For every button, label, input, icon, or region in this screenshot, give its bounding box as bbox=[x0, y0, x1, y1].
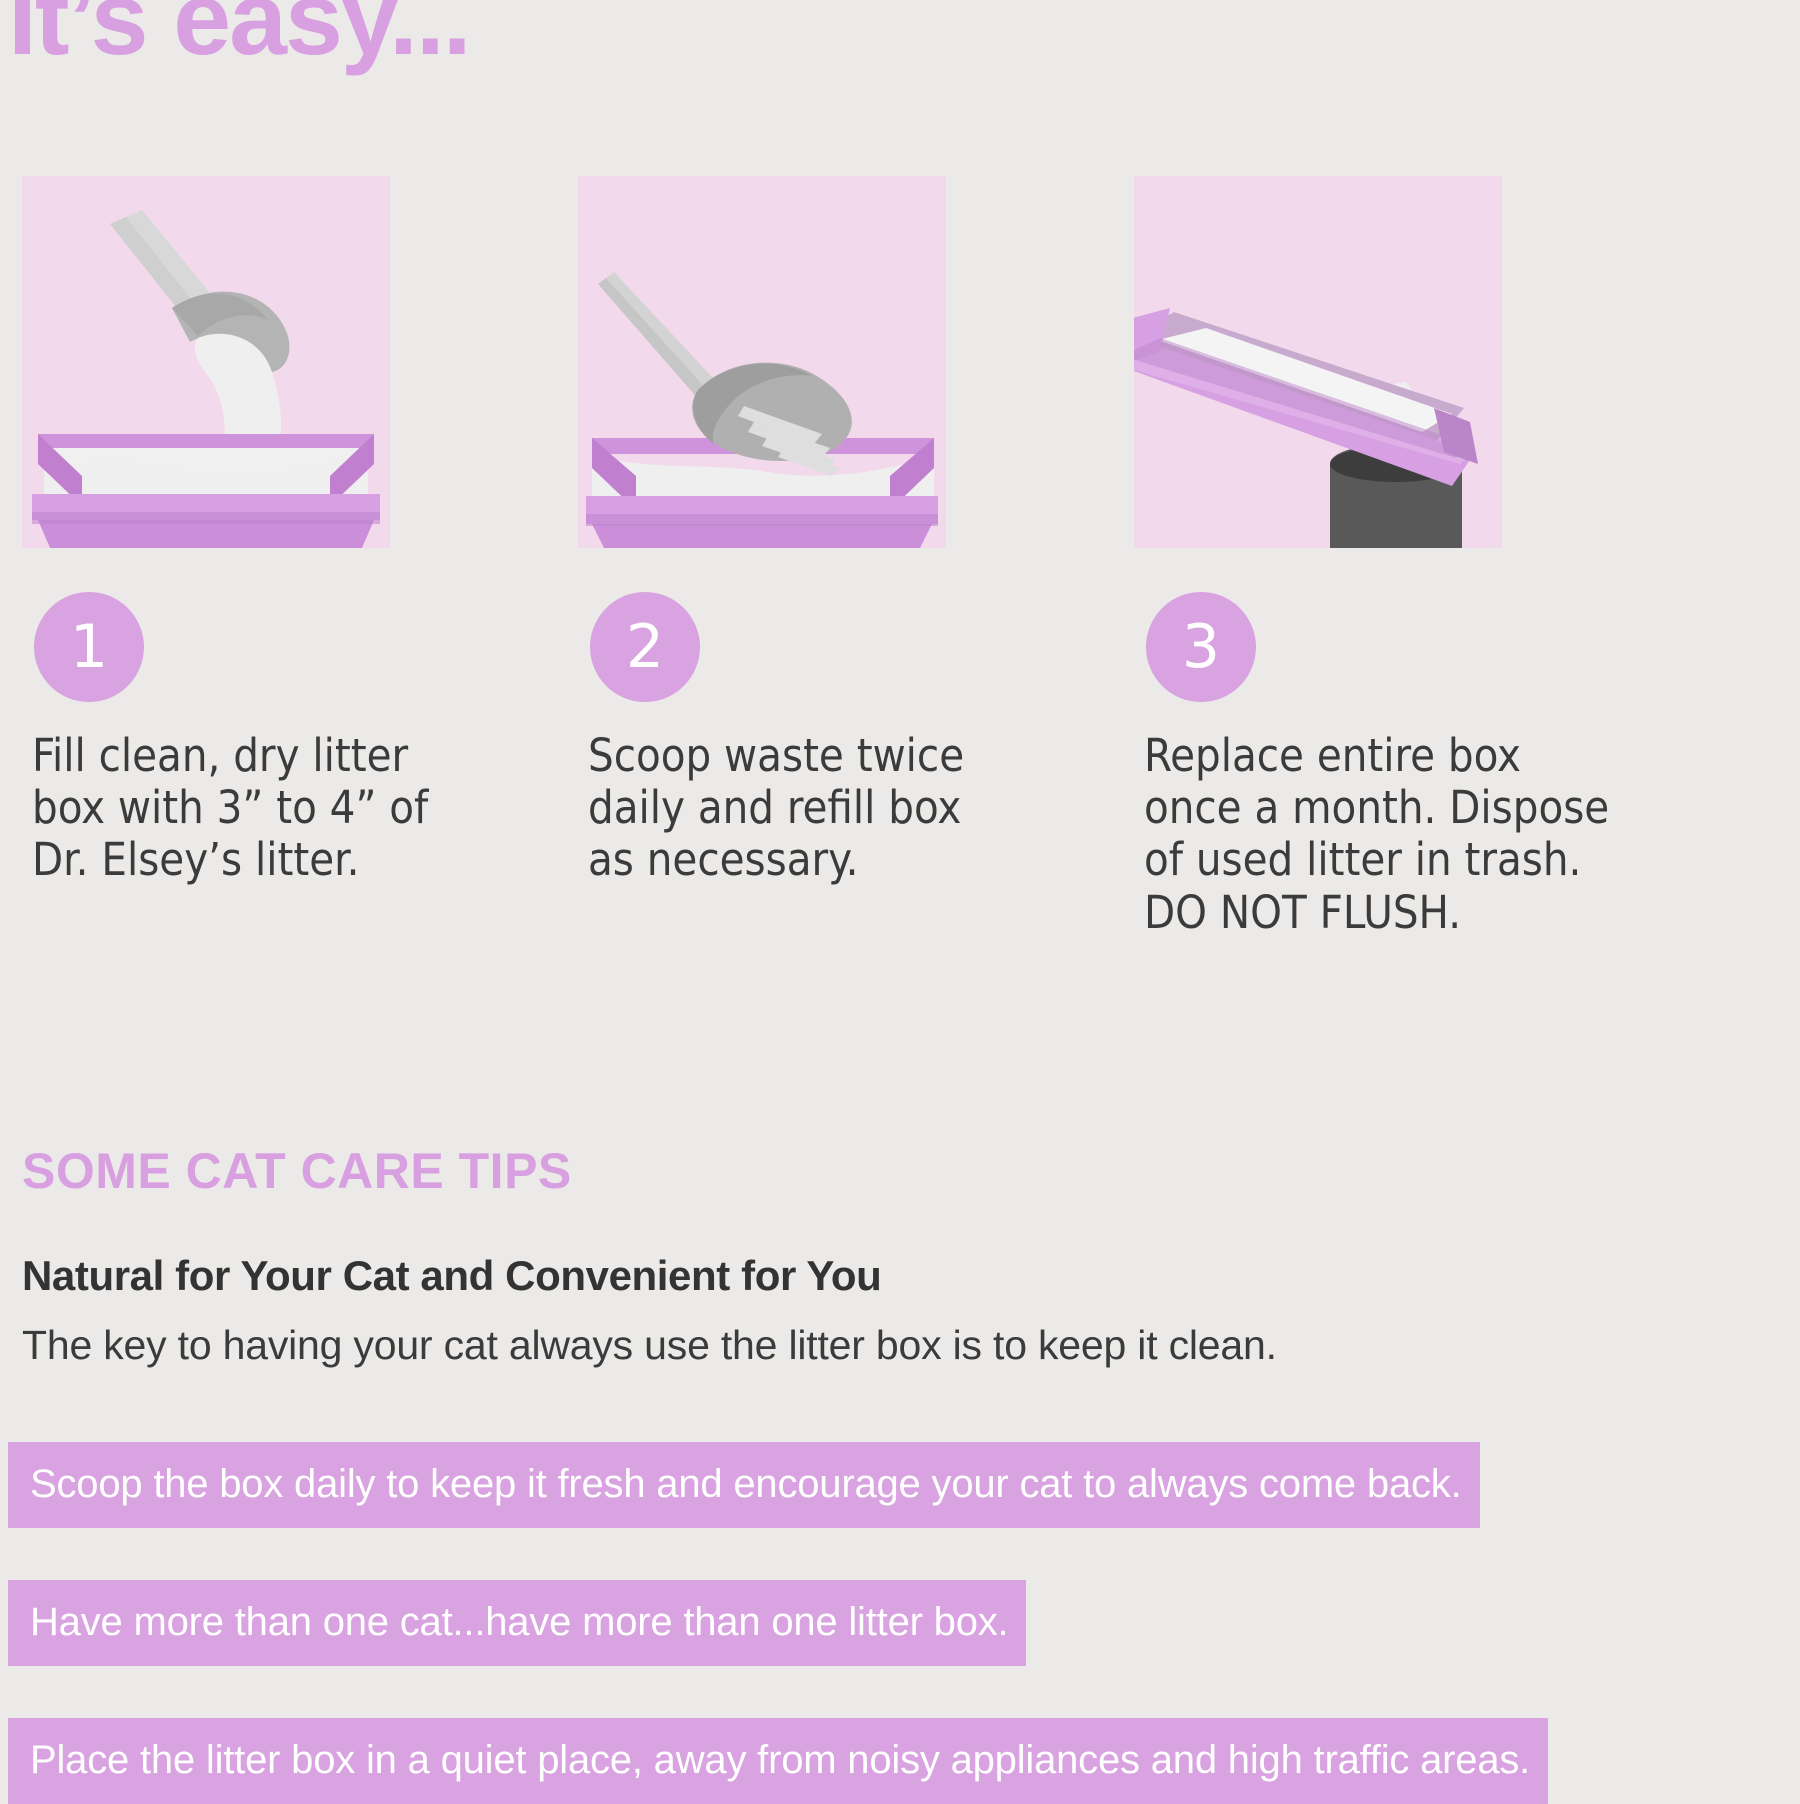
tips-intro-text: The key to having your cat always use th… bbox=[22, 1322, 1277, 1369]
step-illustration-scooping bbox=[578, 176, 946, 548]
step-item: 3 Replace entire box once a month. Dispo… bbox=[1134, 176, 1502, 939]
page-title: It’s easy... bbox=[8, 0, 470, 76]
pouring-litter-icon bbox=[22, 176, 390, 548]
step-description: Scoop waste twice daily and refill box a… bbox=[588, 730, 1058, 887]
tips-heading: SOME CAT CARE TIPS bbox=[22, 1142, 572, 1200]
steps-row: 1 Fill clean, dry litter box with 3” to … bbox=[22, 176, 1800, 939]
tip-bar: Have more than one cat...have more than … bbox=[8, 1580, 1026, 1666]
step-item: 2 Scoop waste twice daily and refill box… bbox=[578, 176, 946, 939]
tip-bar: Scoop the box daily to keep it fresh and… bbox=[8, 1442, 1480, 1528]
step-illustration-emptying-trash bbox=[1134, 176, 1502, 548]
step-item: 1 Fill clean, dry litter box with 3” to … bbox=[22, 176, 390, 939]
tip-bar: Place the litter box in a quiet place, a… bbox=[8, 1718, 1548, 1804]
trash-dispose-icon bbox=[1134, 176, 1502, 548]
step-badge: 3 bbox=[1146, 592, 1256, 702]
tips-subheading: Natural for Your Cat and Convenient for … bbox=[22, 1252, 881, 1300]
step-badge: 1 bbox=[34, 592, 144, 702]
step-description: Replace entire box once a month. Dispose… bbox=[1144, 730, 1614, 939]
step-description: Fill clean, dry litter box with 3” to 4”… bbox=[32, 730, 502, 887]
step-badge: 2 bbox=[590, 592, 700, 702]
step-illustration-pouring-litter bbox=[22, 176, 390, 548]
scoop-icon bbox=[578, 176, 946, 548]
